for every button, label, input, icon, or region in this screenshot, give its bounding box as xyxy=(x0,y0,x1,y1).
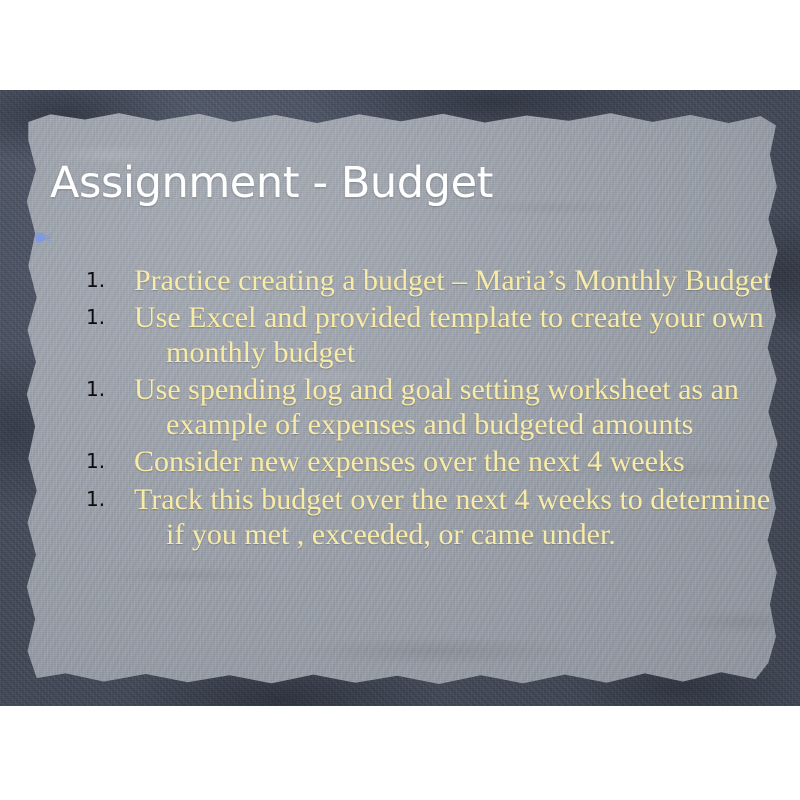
comment-balloon-icon[interactable] xyxy=(34,232,52,248)
list-item: 1. Practice creating a budget – Maria’s … xyxy=(84,263,774,298)
list-item: 1. Track this budget over the next 4 wee… xyxy=(84,482,774,552)
list-item-text: Practice creating a budget – Maria’s Mon… xyxy=(134,263,774,298)
list-item-number: 1. xyxy=(86,449,116,473)
slide-title: Assignment - Budget xyxy=(50,158,493,208)
slide-canvas: Assignment - Budget 1. Practice creating… xyxy=(0,0,800,800)
list-item-text: Use spending log and goal setting worksh… xyxy=(134,372,774,442)
assignment-bullet-list: 1. Practice creating a budget – Maria’s … xyxy=(84,263,774,554)
list-item-number: 1. xyxy=(86,268,116,292)
list-item-number: 1. xyxy=(86,377,116,401)
list-item: 1. Consider new expenses over the next 4… xyxy=(84,444,774,479)
list-item-number: 1. xyxy=(86,305,116,329)
slide-content-area: Assignment - Budget 1. Practice creating… xyxy=(20,108,782,692)
list-item-number: 1. xyxy=(86,487,116,511)
list-item: 1. Use spending log and goal setting wor… xyxy=(84,372,774,442)
list-item-text: Consider new expenses over the next 4 we… xyxy=(134,444,774,479)
list-item-text: Use Excel and provided template to creat… xyxy=(134,300,774,370)
list-item-text: Track this budget over the next 4 weeks … xyxy=(134,482,774,552)
list-item: 1. Use Excel and provided template to cr… xyxy=(84,300,774,370)
